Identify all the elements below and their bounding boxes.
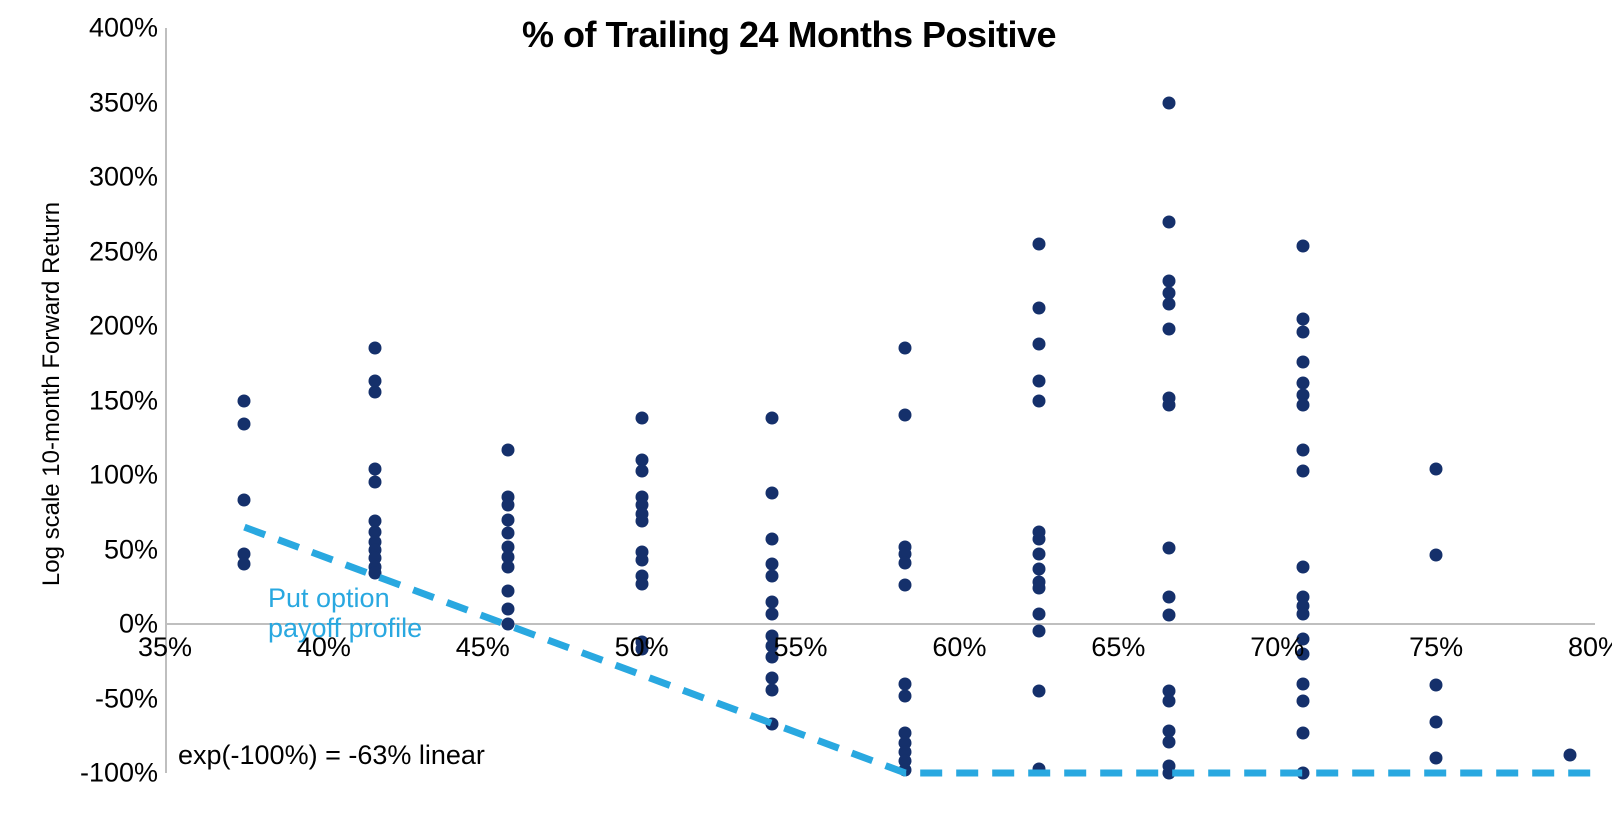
y-axis-tick-label: -100% <box>8 758 158 789</box>
y-axis-tick-label: 350% <box>8 87 158 118</box>
y-axis-tick-label: 400% <box>8 13 158 44</box>
x-axis-tick-label: 45% <box>418 632 548 663</box>
x-axis-tick-label: 55% <box>736 632 866 663</box>
y-axis-tick-labels: 400%350%300%250%200%150%100%50%0%-50%-10… <box>0 0 158 815</box>
exp-linear-note: exp(-100%) = -63% linear <box>178 740 485 771</box>
y-axis-tick-label: 300% <box>8 162 158 193</box>
chart-canvas: % of Trailing 24 Months Positive Log sca… <box>0 0 1612 815</box>
x-axis-tick-label: 70% <box>1212 632 1342 663</box>
y-axis-tick-label: 250% <box>8 236 158 267</box>
y-axis-tick-label: 200% <box>8 311 158 342</box>
put-option-payoff-label: Put option payoff profile <box>268 583 422 643</box>
y-axis-tick-label: 50% <box>8 534 158 565</box>
x-axis-tick-label: 65% <box>1053 632 1183 663</box>
plot-area: 35%40%45%50%55%60%65%70%75%80% <box>165 28 1595 773</box>
x-axis-tick-label: 60% <box>894 632 1024 663</box>
y-axis-tick-label: 100% <box>8 460 158 491</box>
y-axis-tick-label: -50% <box>8 683 158 714</box>
x-axis-tick-label: 50% <box>577 632 707 663</box>
x-axis-tick-label: 75% <box>1371 632 1501 663</box>
x-axis-tick-label: 35% <box>100 632 230 663</box>
y-axis-tick-label: 150% <box>8 385 158 416</box>
x-axis-tick-label: 80% <box>1530 632 1612 663</box>
